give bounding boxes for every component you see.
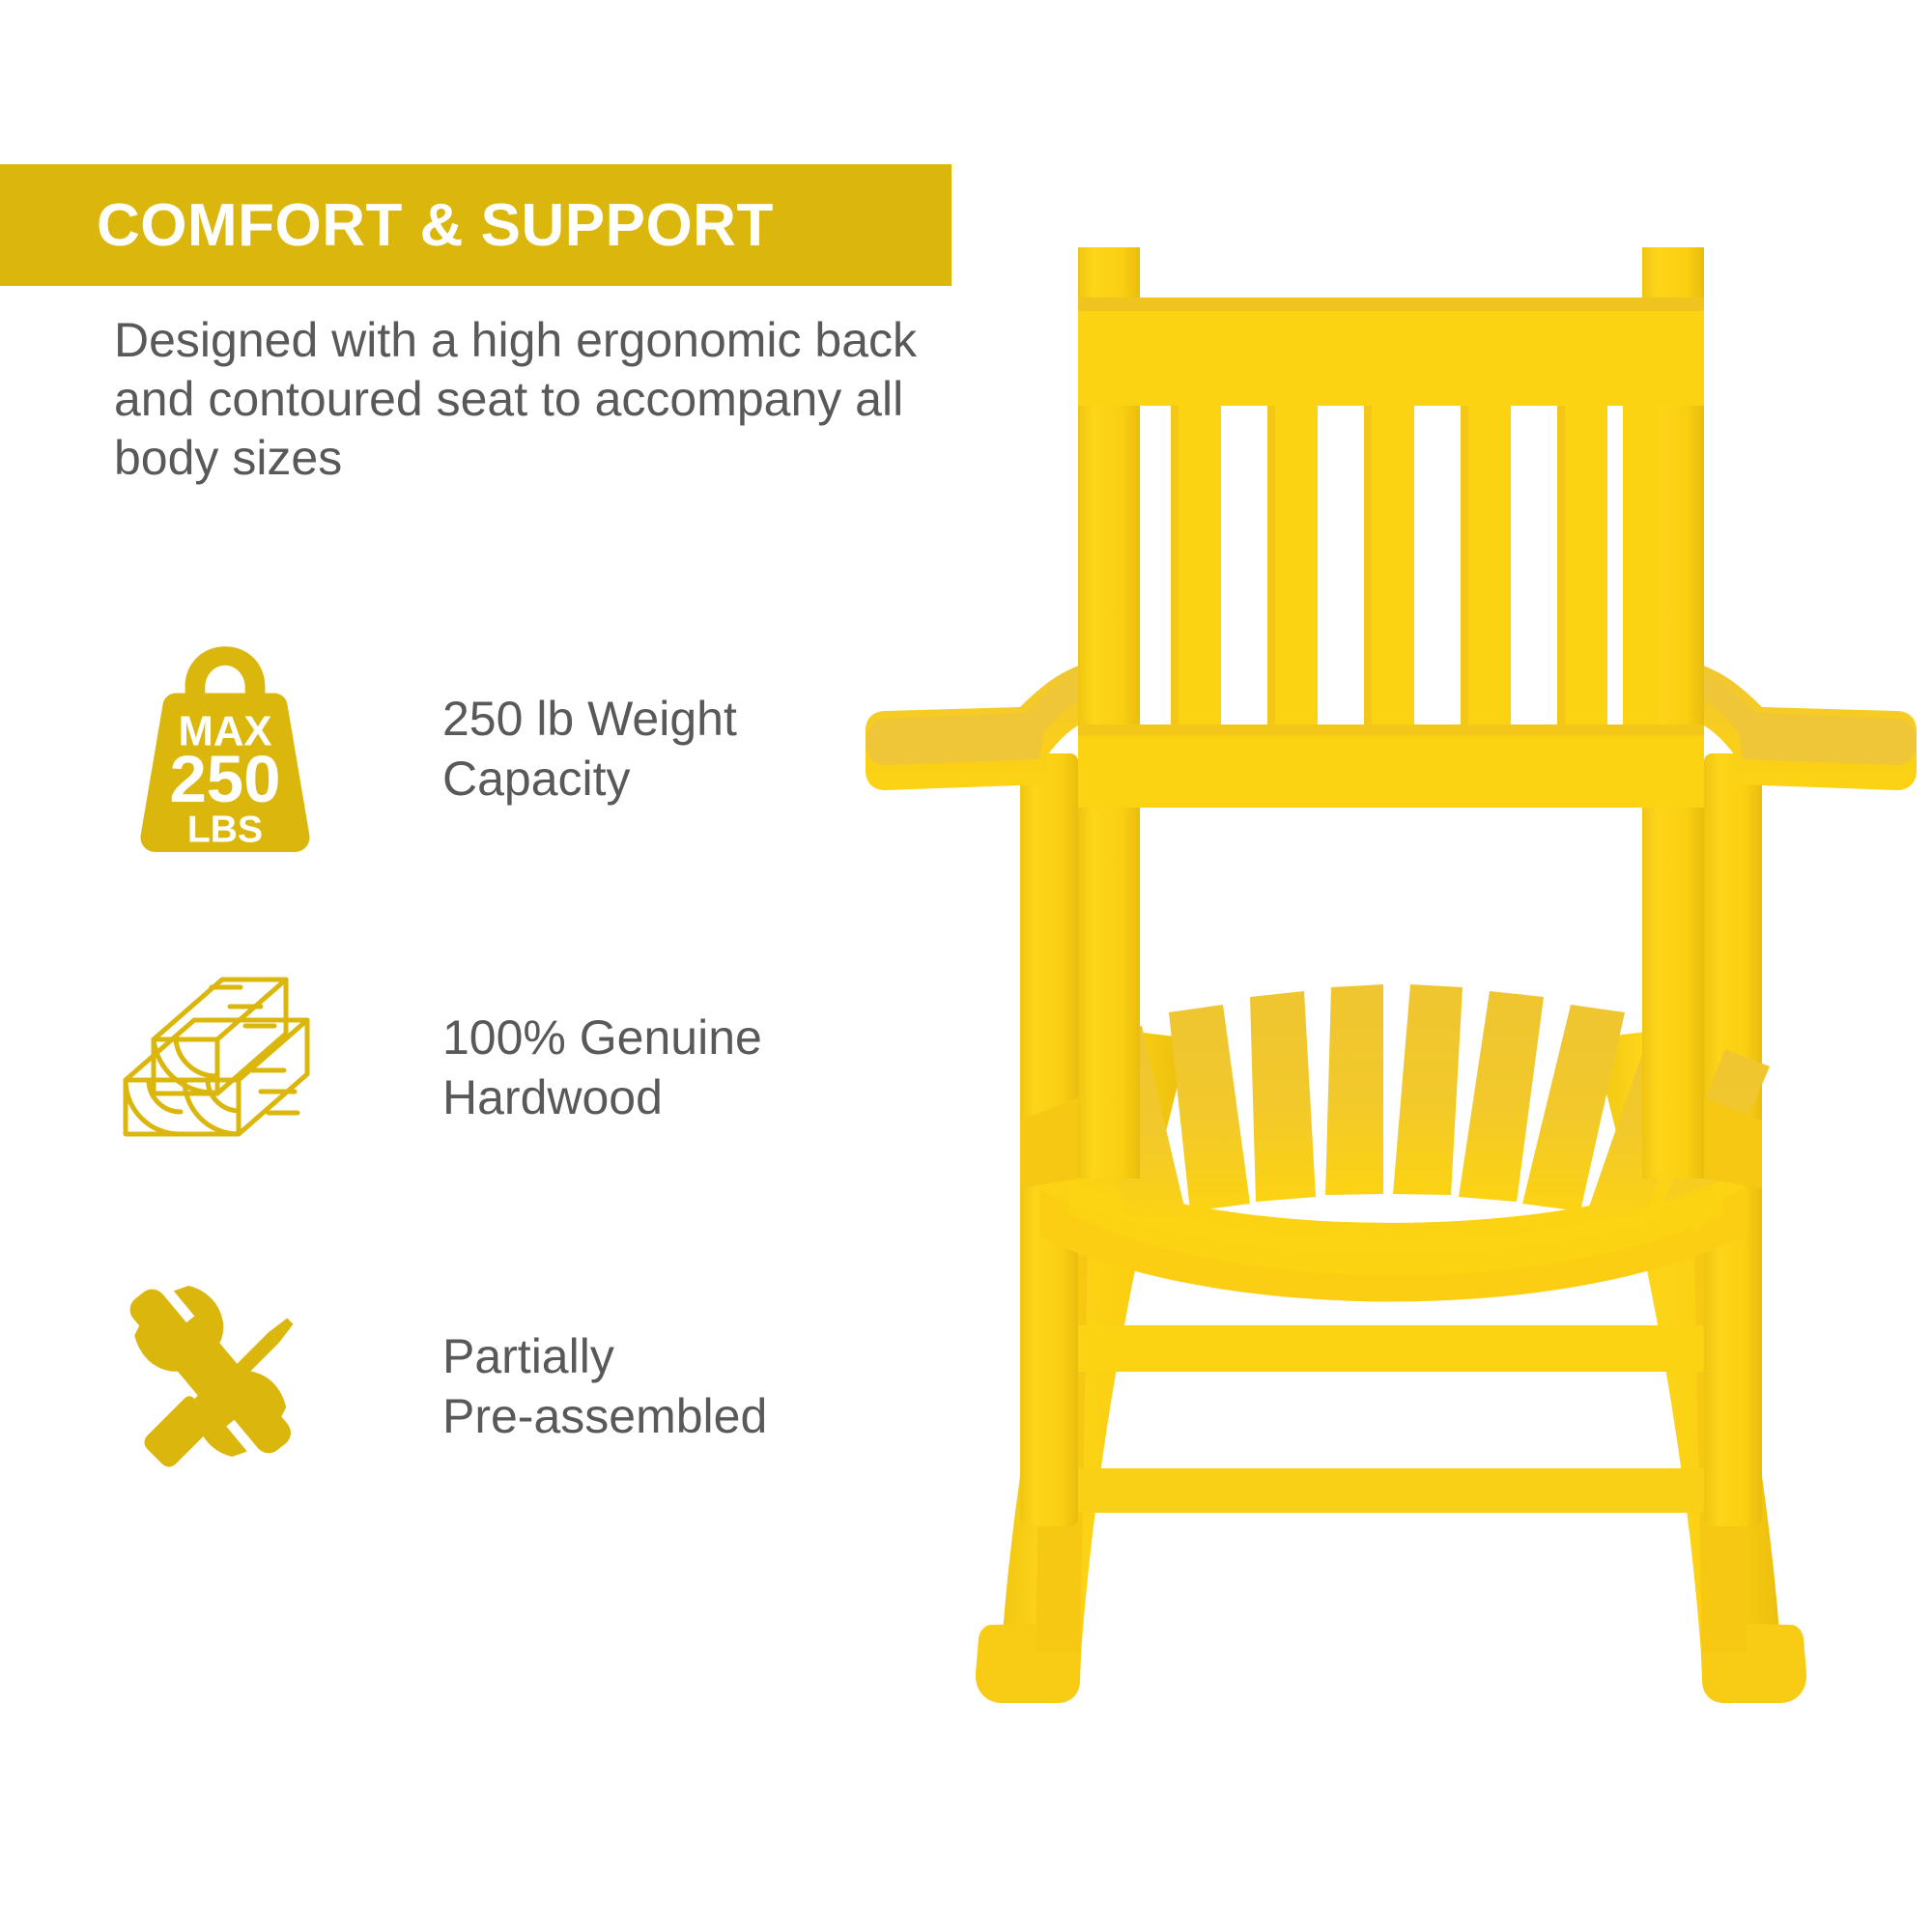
feature-label-weight-capacity: 250 lb Weight Capacity <box>442 689 737 810</box>
feature-label-hardwood: 100% Genuine Hardwood <box>442 1008 762 1128</box>
feature-label-line-1: Partially <box>442 1326 767 1387</box>
feature-row-hardwood: 100% Genuine Hardwood <box>114 908 925 1227</box>
feature-label-line-2: Capacity <box>442 749 737 810</box>
weight-capacity-icon: MAX 250 LBS <box>114 638 336 860</box>
feature-label-preassembled: Partially Pre-assembled <box>442 1326 767 1447</box>
lower-stretchers <box>1022 1325 1760 1513</box>
hardwood-lumber-icon <box>114 956 336 1179</box>
weight-icon-value-label: 250 <box>169 742 280 816</box>
section-header-banner: COMFORT & SUPPORT <box>0 164 952 286</box>
feature-list: MAX 250 LBS 250 lb Weight Capacity <box>114 589 925 1546</box>
feature-row-weight-capacity: MAX 250 LBS 250 lb Weight Capacity <box>114 589 925 908</box>
feature-row-preassembled: Partially Pre-assembled <box>114 1227 925 1546</box>
feature-label-line-2: Pre-assembled <box>442 1386 767 1447</box>
feature-label-line-1: 250 lb Weight <box>442 689 737 750</box>
feature-label-line-2: Hardwood <box>442 1067 762 1128</box>
intro-description: Designed with a high ergonomic back and … <box>114 311 945 488</box>
weight-icon-lbs-label: LBS <box>187 810 263 851</box>
page-title: COMFORT & SUPPORT <box>0 191 774 260</box>
feature-label-line-1: 100% Genuine <box>442 1008 762 1068</box>
rocking-chair-illustration <box>850 213 1932 1797</box>
tools-icon <box>114 1275 336 1497</box>
product-image-rocking-chair <box>850 213 1932 1797</box>
